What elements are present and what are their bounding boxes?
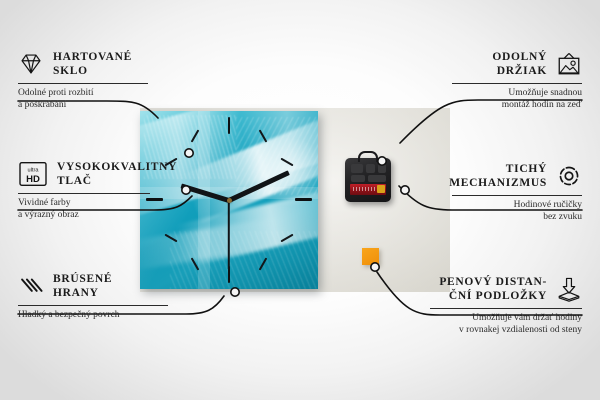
feature-description: Odolné proti rozbití a poškrábání	[18, 88, 148, 111]
infographic-stage: HARTOVANÉ SKLO Odolné proti rozbití a po…	[0, 0, 600, 400]
feature-high-quality-print: ultra HD VYSOKOKVALITNÝ TLAČ Vividné far…	[18, 160, 150, 221]
feature-description: Hladký a bezpečný povrch	[18, 310, 168, 322]
feature-divider	[452, 195, 582, 196]
feature-title-line2: HRANY	[53, 286, 112, 300]
wire-node-edges	[231, 288, 239, 296]
feature-title-line2: SKLO	[53, 64, 132, 78]
feature-durable-hanger: ODOLNÝ DRŽIAK Umožňuje snadnou montáž ho…	[452, 50, 582, 111]
feature-desc-line1: Hladký a bezpečný povrch	[18, 310, 168, 322]
wire-node-hanger	[378, 157, 386, 165]
svg-text:ultra: ultra	[28, 167, 40, 173]
feature-desc-line1: Hodinové ručičky	[452, 200, 582, 212]
feature-description: Hodinové ručičky bez zvuku	[452, 200, 582, 223]
feature-title-line1: HARTOVANÉ	[53, 50, 132, 64]
feature-ground-edges: BRÚSENÉ HRANY Hladký a bezpečný povrch	[18, 272, 168, 322]
feature-title: HARTOVANÉ SKLO	[53, 50, 132, 78]
feature-desc-line2: a poškrábání	[18, 100, 148, 112]
feature-divider	[430, 308, 582, 309]
diamond-icon	[18, 51, 44, 77]
feature-title-line1: BRÚSENÉ	[53, 272, 112, 286]
feature-desc-line1: Vividné farby	[18, 198, 150, 210]
feature-header: BRÚSENÉ HRANY	[18, 272, 168, 300]
feature-desc-line2: bez zvuku	[452, 212, 582, 224]
feature-divider	[18, 83, 148, 84]
picture-hanger-icon	[556, 51, 582, 77]
ultra-hd-icon: ultra HD	[18, 161, 48, 187]
wire-node-foam	[371, 263, 379, 271]
feature-header: ultra HD VYSOKOKVALITNÝ TLAČ	[18, 160, 150, 188]
feature-title-line1: PENOVÝ DISTAN-	[439, 275, 547, 289]
feature-divider	[18, 193, 150, 194]
feature-desc-line1: Odolné proti rozbití	[18, 88, 148, 100]
feature-description: Umožňuje snadnou montáž hodin na zeď	[452, 88, 582, 111]
feature-divider	[452, 83, 582, 84]
feature-title: BRÚSENÉ HRANY	[53, 272, 112, 300]
press-down-pad-icon	[556, 276, 582, 302]
feature-header: TICHÝ MECHANIZMUS	[452, 162, 582, 190]
feature-desc-line2: montáž hodin na zeď	[452, 100, 582, 112]
feature-title-line2: MECHANIZMUS	[449, 176, 547, 190]
wire-node-mechanism	[401, 186, 409, 194]
feature-title: TICHÝ MECHANIZMUS	[449, 162, 547, 190]
gear-icon	[556, 163, 582, 189]
feature-title-line1: VYSOKOKVALITNÝ	[57, 160, 177, 174]
svg-text:HD: HD	[26, 174, 40, 185]
feature-header: PENOVÝ DISTAN- ČNÍ PODLOŽKY	[430, 275, 582, 303]
feature-tempered-glass: HARTOVANÉ SKLO Odolné proti rozbití a po…	[18, 50, 148, 111]
feature-title-line2: ČNÍ PODLOŽKY	[439, 289, 547, 303]
feature-header: HARTOVANÉ SKLO	[18, 50, 148, 78]
feature-silent-mechanism: TICHÝ MECHANIZMUS Hodinové ručičky bez z…	[452, 162, 582, 223]
feature-foam-spacers: PENOVÝ DISTAN- ČNÍ PODLOŽKY Umožňuje vám…	[430, 275, 582, 336]
feature-title: PENOVÝ DISTAN- ČNÍ PODLOŽKY	[439, 275, 547, 303]
feature-divider	[18, 305, 168, 306]
feature-description: Umožňuje vám držať hodiny v rovnakej vzd…	[430, 313, 582, 336]
feature-title: VYSOKOKVALITNÝ TLAČ	[57, 160, 177, 188]
feature-title-line1: ODOLNÝ	[492, 50, 547, 64]
feature-desc-line1: Umožňuje snadnou	[452, 88, 582, 100]
feature-desc-line1: Umožňuje vám držať hodiny	[430, 313, 582, 325]
wire-node-print	[182, 186, 190, 194]
feature-title-line2: TLAČ	[57, 174, 177, 188]
ground-edges-icon	[18, 273, 44, 299]
feature-desc-line2: a výrazný obraz	[18, 210, 150, 222]
feature-title: ODOLNÝ DRŽIAK	[492, 50, 547, 78]
wire-node-tempered-glass	[185, 149, 193, 157]
feature-header: ODOLNÝ DRŽIAK	[452, 50, 582, 78]
feature-description: Vividné farby a výrazný obraz	[18, 198, 150, 221]
feature-desc-line2: v rovnakej vzdialenosti od steny	[430, 325, 582, 337]
feature-title-line1: TICHÝ	[449, 162, 547, 176]
feature-title-line2: DRŽIAK	[492, 64, 547, 78]
